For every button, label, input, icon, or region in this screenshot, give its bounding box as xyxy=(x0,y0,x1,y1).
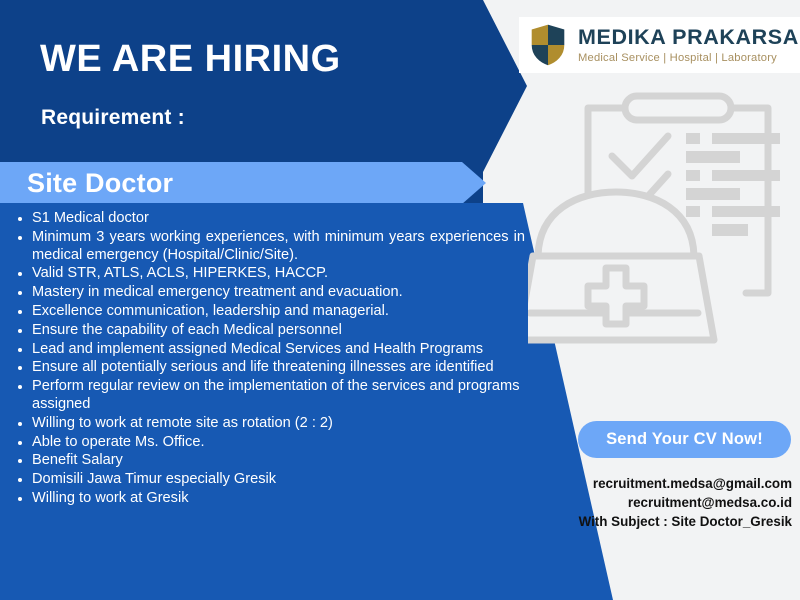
job-role-title: Site Doctor xyxy=(27,168,173,199)
nurse-cap-icon xyxy=(538,192,694,258)
checkmark-icon xyxy=(612,136,668,176)
email-primary[interactable]: recruitment.medsa@gmail.com xyxy=(492,474,792,493)
clipboard-and-nurse-cap-illustration xyxy=(528,88,798,373)
requirements-list: S1 Medical doctor Minimum 3 years workin… xyxy=(10,210,525,509)
list-item: Willing to work at Gresik xyxy=(10,490,525,508)
list-item: Lead and implement assigned Medical Serv… xyxy=(10,341,525,359)
list-item: Minimum 3 years working experiences, wit… xyxy=(10,229,525,265)
logo-company-name: MEDIKA PRAKARSA xyxy=(578,26,799,49)
contact-block: recruitment.medsa@gmail.com recruitment@… xyxy=(492,474,792,531)
list-item: Benefit Salary xyxy=(10,452,525,470)
list-item: Willing to work at remote site as rotati… xyxy=(10,415,525,433)
email-secondary[interactable]: recruitment@medsa.co.id xyxy=(492,493,792,512)
requirement-label: Requirement : xyxy=(41,106,185,130)
page-title: WE ARE HIRING xyxy=(40,40,341,78)
send-cv-button[interactable]: Send Your CV Now! xyxy=(578,421,791,458)
shield-icon xyxy=(529,23,567,67)
list-item: Perform regular review on the implementa… xyxy=(10,378,525,414)
hiring-poster: WE ARE HIRING Requirement : Site Doctor … xyxy=(0,0,800,600)
list-item: Valid STR, ATLS, ACLS, HIPERKES, HACCP. xyxy=(10,265,525,283)
list-item: Mastery in medical emergency treatment a… xyxy=(10,284,525,302)
list-item: Domisili Jawa Timur especially Gresik xyxy=(10,471,525,489)
logo-text-block: MEDIKA PRAKARSA Medical Service | Hospit… xyxy=(578,26,799,64)
list-item: Able to operate Ms. Office. xyxy=(10,434,525,452)
list-item: Ensure all potentially serious and life … xyxy=(10,359,525,377)
list-item: S1 Medical doctor xyxy=(10,210,525,228)
list-item: Ensure the capability of each Medical pe… xyxy=(10,322,525,340)
company-logo: MEDIKA PRAKARSA Medical Service | Hospit… xyxy=(519,17,800,73)
email-subject-line: With Subject : Site Doctor_Gresik xyxy=(492,512,792,531)
logo-tagline: Medical Service | Hospital | Laboratory xyxy=(578,52,799,64)
list-item: Excellence communication, leadership and… xyxy=(10,303,525,321)
